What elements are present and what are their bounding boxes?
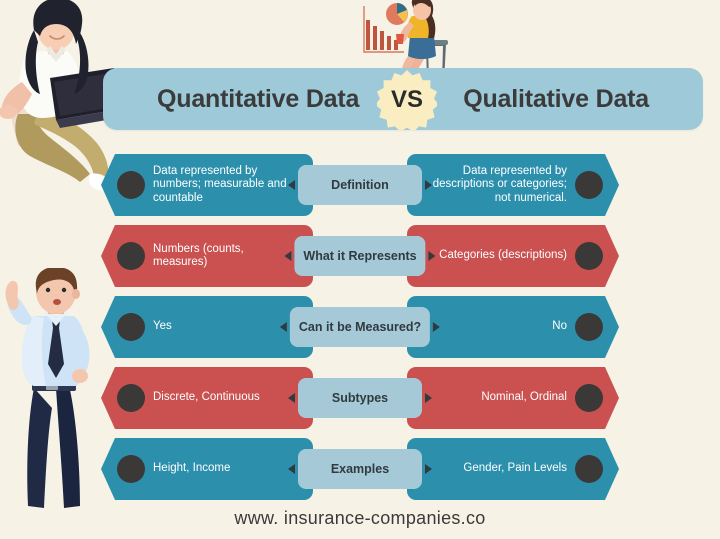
left-value-text: Yes bbox=[153, 320, 172, 334]
criteria-label: Examples bbox=[331, 462, 389, 476]
footer-website: www. insurance-companies.co bbox=[0, 508, 720, 529]
criteria-label-box[interactable]: Examples bbox=[298, 449, 422, 489]
arrow-left-icon bbox=[288, 180, 295, 190]
center-label-group: Examples bbox=[288, 449, 432, 489]
criteria-label: Can it be Measured? bbox=[299, 320, 421, 334]
comparison-row: Height, IncomeExamplesGender, Pain Level… bbox=[0, 434, 720, 504]
right-value-box[interactable]: Categories (descriptions) bbox=[407, 225, 619, 287]
arrow-right-icon bbox=[429, 251, 436, 261]
arrow-left-icon bbox=[280, 322, 287, 332]
bullet-dot-icon bbox=[117, 313, 145, 341]
page-title-right: Qualitative Data bbox=[463, 85, 649, 114]
criteria-label-box[interactable]: Can it be Measured? bbox=[290, 307, 430, 347]
arrow-left-icon bbox=[288, 464, 295, 474]
left-value-box[interactable]: Height, Income bbox=[101, 438, 313, 500]
center-label-group: Definition bbox=[288, 165, 432, 205]
criteria-label-box[interactable]: Subtypes bbox=[298, 378, 422, 418]
bullet-dot-icon bbox=[575, 171, 603, 199]
arrow-right-icon bbox=[433, 322, 440, 332]
arrow-right-icon bbox=[425, 393, 432, 403]
center-label-group: Can it be Measured? bbox=[280, 307, 440, 347]
bullet-dot-icon bbox=[117, 171, 145, 199]
left-value-box[interactable]: Numbers (counts, measures) bbox=[101, 225, 313, 287]
right-value-box[interactable]: Data represented by descriptions or cate… bbox=[407, 154, 619, 216]
arrow-right-icon bbox=[425, 180, 432, 190]
right-value-text: Categories (descriptions) bbox=[439, 249, 567, 263]
page-title-left: Quantitative Data bbox=[157, 85, 359, 114]
bullet-dot-icon bbox=[575, 455, 603, 483]
left-value-text: Data represented by numbers; measurable … bbox=[153, 165, 301, 206]
arrow-left-icon bbox=[288, 393, 295, 403]
left-value-text: Numbers (counts, measures) bbox=[153, 243, 301, 270]
left-value-box[interactable]: Data represented by numbers; measurable … bbox=[101, 154, 313, 216]
comparison-row: Discrete, ContinuousSubtypesNominal, Ord… bbox=[0, 363, 720, 433]
center-label-group: Subtypes bbox=[288, 378, 432, 418]
arrow-left-icon bbox=[284, 251, 291, 261]
criteria-label-box[interactable]: Definition bbox=[298, 165, 422, 205]
left-value-box[interactable]: Discrete, Continuous bbox=[101, 367, 313, 429]
center-label-group: What it Represents bbox=[284, 236, 435, 276]
left-value-text: Discrete, Continuous bbox=[153, 391, 260, 405]
bullet-dot-icon bbox=[575, 384, 603, 412]
right-value-box[interactable]: Gender, Pain Levels bbox=[407, 438, 619, 500]
right-value-text: No bbox=[552, 320, 567, 334]
arrow-right-icon bbox=[425, 464, 432, 474]
bullet-dot-icon bbox=[117, 384, 145, 412]
right-value-text: Gender, Pain Levels bbox=[463, 462, 567, 476]
bullet-dot-icon bbox=[575, 313, 603, 341]
right-value-text: Nominal, Ordinal bbox=[481, 391, 567, 405]
criteria-label: Subtypes bbox=[332, 391, 388, 405]
comparison-rows: Data represented by numbers; measurable … bbox=[0, 150, 720, 505]
bullet-dot-icon bbox=[117, 242, 145, 270]
criteria-label: What it Represents bbox=[303, 249, 416, 263]
right-value-text: Data represented by descriptions or cate… bbox=[419, 165, 567, 206]
right-value-box[interactable]: Nominal, Ordinal bbox=[407, 367, 619, 429]
comparison-row: Numbers (counts, measures)What it Repres… bbox=[0, 221, 720, 291]
comparison-row: YesCan it be Measured?No bbox=[0, 292, 720, 362]
vs-badge-label: VS bbox=[391, 86, 423, 114]
left-value-text: Height, Income bbox=[153, 462, 230, 476]
bullet-dot-icon bbox=[117, 455, 145, 483]
comparison-row: Data represented by numbers; measurable … bbox=[0, 150, 720, 220]
criteria-label-box[interactable]: What it Represents bbox=[294, 236, 425, 276]
bullet-dot-icon bbox=[575, 242, 603, 270]
criteria-label: Definition bbox=[331, 178, 389, 192]
